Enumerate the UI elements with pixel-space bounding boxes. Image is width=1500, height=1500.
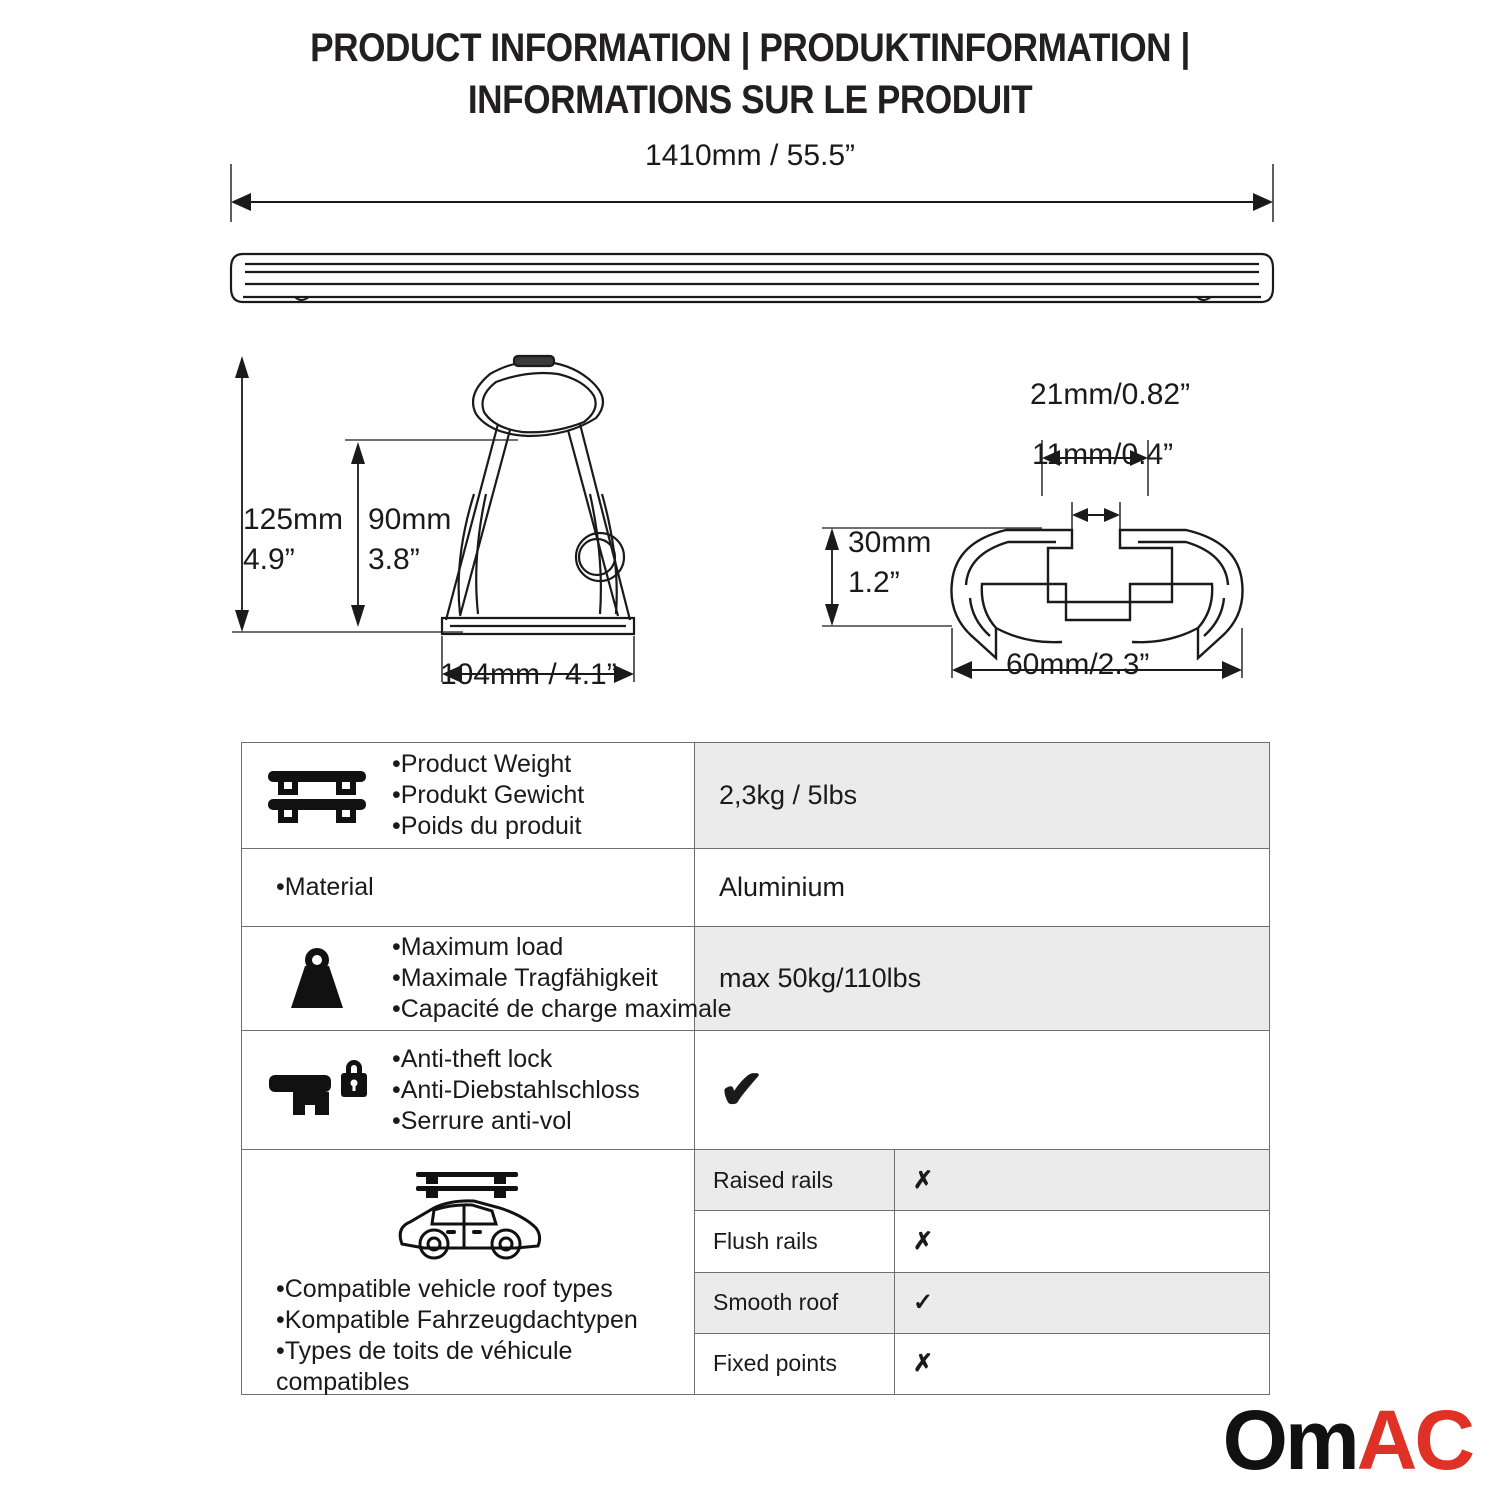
roof-type-value: ✓ (895, 1273, 1269, 1333)
foot-inner-height-label: 90mm 3.8” (368, 500, 451, 580)
title-line-2: INFORMATIONS SUR LE PRODUIT (90, 74, 1410, 126)
crossbar-side-view-diagram (225, 160, 1285, 310)
roof-type-subtable: Raised rails ✗ Flush rails ✗ Smooth roof… (695, 1150, 1269, 1394)
car-roof-icon (242, 1164, 694, 1264)
table-row: •Product Weight •Produkt Gewicht •Poids … (242, 743, 1269, 849)
logo-text-accent: AC (1357, 1393, 1472, 1487)
roof-type-row: Fixed points ✗ (695, 1334, 1269, 1394)
spec-label-group: •Anti-theft lock •Anti-Diebstahlschloss … (392, 1044, 640, 1137)
spec-label-en: •Compatible vehicle roof types (276, 1274, 638, 1305)
table-row: •Compatible vehicle roof types •Kompatib… (242, 1150, 1269, 1394)
omac-logo: OmAC (1223, 1398, 1472, 1482)
spec-label-group: •Compatible vehicle roof types •Kompatib… (242, 1264, 638, 1398)
spec-value-max-load: max 50kg/110lbs (695, 927, 1269, 1030)
lock-icon (242, 1055, 392, 1125)
table-row: •Material Aluminium (242, 849, 1269, 927)
spec-label-group: •Product Weight •Produkt Gewicht •Poids … (392, 749, 584, 842)
profile-slot-width-label: 11mm/0.4” (1032, 435, 1173, 475)
spec-label-group: •Maximum load •Maximale Tragfähigkeit •C… (392, 932, 731, 1025)
spec-label-fr: •Capacité de charge maximale (392, 994, 731, 1025)
page-title: PRODUCT INFORMATION | PRODUKTINFORMATION… (90, 22, 1410, 126)
logo-text-primary: Om (1223, 1393, 1357, 1487)
profile-width-label: 60mm/2.3” (1006, 645, 1149, 685)
spec-label-group: •Material (242, 872, 374, 903)
spec-label-cell: •Compatible vehicle roof types •Kompatib… (242, 1150, 695, 1394)
roof-type-row: Smooth roof ✓ (695, 1273, 1269, 1334)
roof-type-name: Smooth roof (695, 1273, 895, 1333)
foot-total-height-label: 125mm 4.9” (243, 500, 343, 580)
roof-type-row: Raised rails ✗ (695, 1150, 1269, 1211)
spec-value-material: Aluminium (695, 849, 1269, 926)
spec-label-en: •Anti-theft lock (392, 1044, 640, 1075)
spec-value-anti-theft: ✔ (695, 1031, 1269, 1149)
table-row: •Maximum load •Maximale Tragfähigkeit •C… (242, 927, 1269, 1031)
profile-top-width-label: 21mm/0.82” (1030, 375, 1190, 415)
spec-label-cell: •Material (242, 849, 695, 926)
spec-value-weight: 2,3kg / 5lbs (695, 743, 1269, 848)
spec-label-de: •Produkt Gewicht (392, 780, 584, 811)
spec-label-en: •Maximum load (392, 932, 731, 963)
product-spec-table: •Product Weight •Produkt Gewicht •Poids … (241, 742, 1270, 1395)
table-row: •Anti-theft lock •Anti-Diebstahlschloss … (242, 1031, 1269, 1150)
spec-label-fr: •Types de toits de véhicule (276, 1336, 638, 1367)
roof-type-value: ✗ (895, 1211, 1269, 1271)
spec-label-de: •Maximale Tragfähigkeit (392, 963, 731, 994)
weight-icon (242, 946, 392, 1012)
spec-label-en: •Material (276, 872, 374, 903)
spec-label-de: •Kompatible Fahrzeugdachtypen (276, 1305, 638, 1336)
roof-type-name: Fixed points (695, 1334, 895, 1394)
spec-label-cell: •Product Weight •Produkt Gewicht •Poids … (242, 743, 695, 848)
roof-type-row: Flush rails ✗ (695, 1211, 1269, 1272)
spec-label-en: •Product Weight (392, 749, 584, 780)
profile-height-label: 30mm 1.2” (848, 523, 931, 603)
spec-label-fr: •Poids du produit (392, 811, 584, 842)
roof-type-value: ✗ (895, 1150, 1269, 1210)
crossbars-icon (242, 765, 392, 827)
spec-label-cell: •Anti-theft lock •Anti-Diebstahlschloss … (242, 1031, 695, 1149)
spec-label-fr-cont: compatibles (276, 1367, 638, 1398)
title-line-1: PRODUCT INFORMATION | PRODUKTINFORMATION… (90, 22, 1410, 74)
foot-width-label: 104mm / 4.1” (440, 655, 617, 695)
spec-label-de: •Anti-Diebstahlschloss (392, 1075, 640, 1106)
checkmark-icon: ✔ (719, 1063, 764, 1117)
roof-type-name: Raised rails (695, 1150, 895, 1210)
roof-type-name: Flush rails (695, 1211, 895, 1271)
roof-type-value: ✗ (895, 1334, 1269, 1394)
spec-label-fr: •Serrure anti-vol (392, 1106, 640, 1137)
spec-label-cell: •Maximum load •Maximale Tragfähigkeit •C… (242, 927, 695, 1030)
